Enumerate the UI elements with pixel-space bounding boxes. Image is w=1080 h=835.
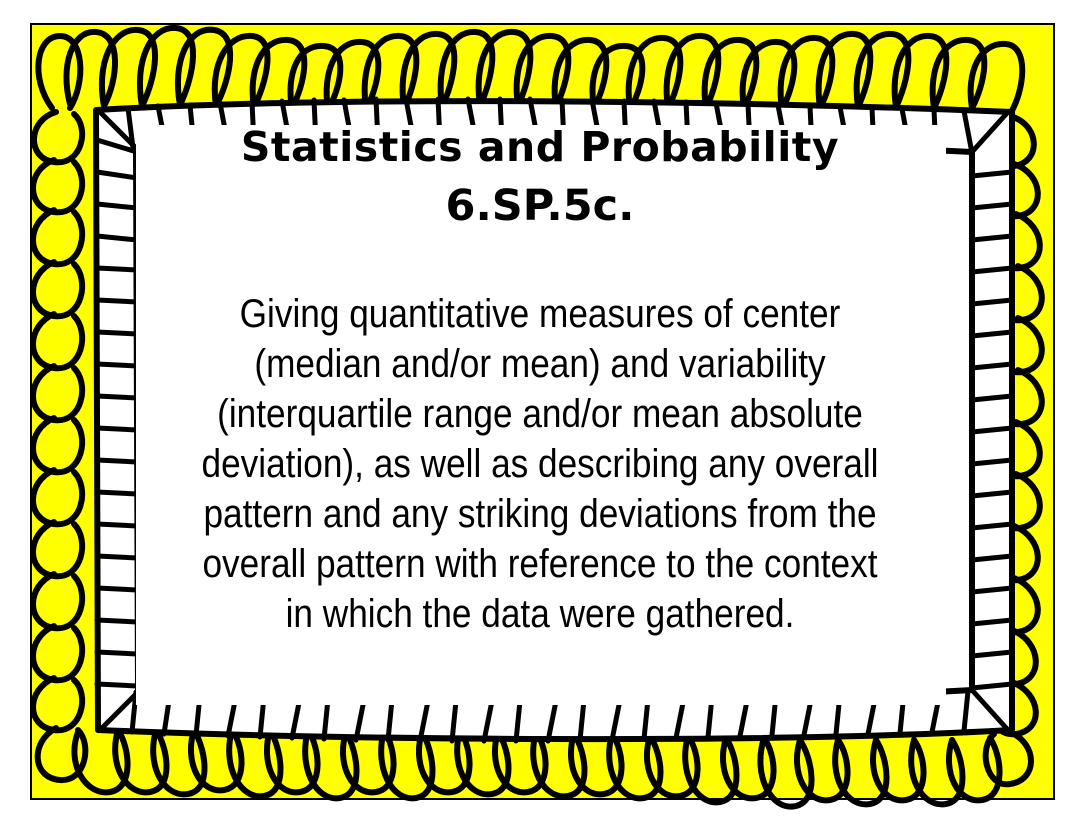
body-line: pattern and any striking deviations from… — [175, 489, 905, 539]
body-line: overall pattern with reference to the co… — [175, 539, 905, 589]
body-line: in which the data were gathered. — [175, 589, 905, 639]
text-stack: Statistics and Probability 6.SP.5c. Givi… — [120, 118, 960, 718]
subject-title: Statistics and Probability — [241, 118, 839, 176]
body-line: (median and/or mean) and variability — [175, 339, 905, 389]
body-line: Giving quantitative measures of center — [175, 289, 905, 339]
body-line: (interquartile range and/or mean absolut… — [175, 389, 905, 439]
body-line: deviation), as well as describing any ov… — [175, 439, 905, 489]
standard-code: 6.SP.5c. — [446, 176, 635, 237]
standard-description: Giving quantitative measures of center (… — [175, 289, 905, 639]
standard-card: Statistics and Probability 6.SP.5c. Givi… — [0, 0, 1080, 835]
